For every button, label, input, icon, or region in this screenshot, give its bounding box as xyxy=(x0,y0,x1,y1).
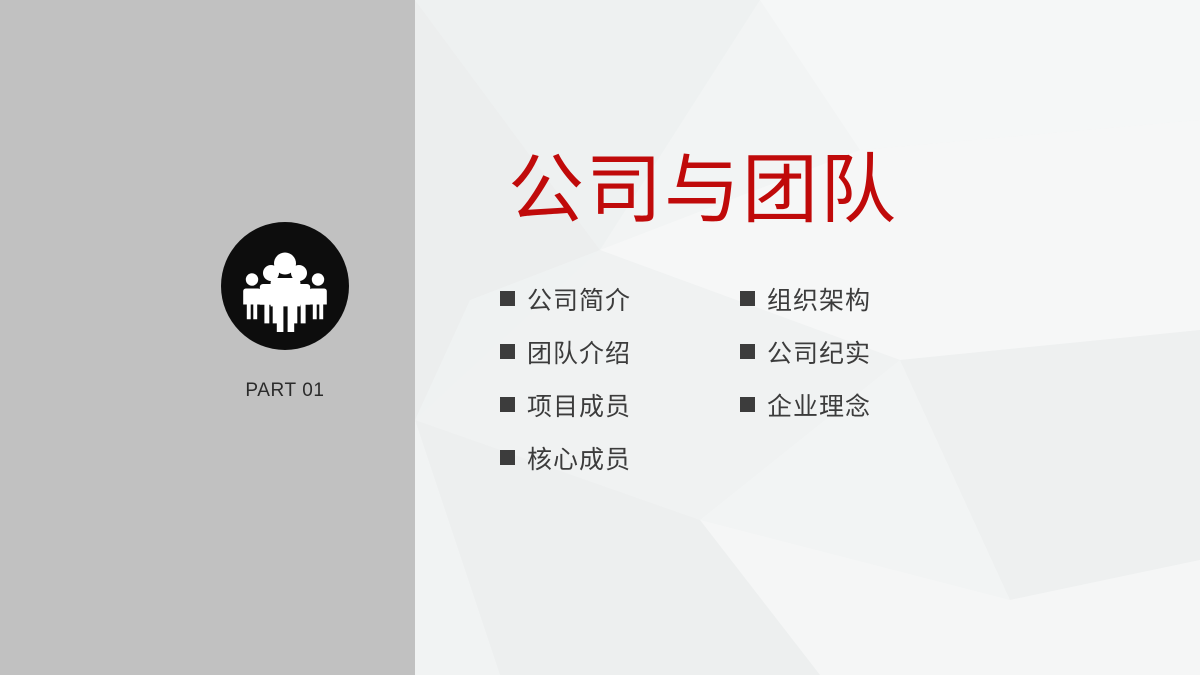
list-item[interactable]: 企业理念 xyxy=(740,378,871,431)
list-item[interactable]: 项目成员 xyxy=(500,378,631,431)
list-item-label: 项目成员 xyxy=(527,387,631,423)
square-bullet-icon xyxy=(500,397,515,412)
list-item-label: 组织架构 xyxy=(767,281,871,317)
square-bullet-icon xyxy=(740,344,755,359)
slide-root: PART 01 公司与团队 公司简介 团队介绍 项目成员 核心成员 组织架构 公… xyxy=(0,0,1200,675)
square-bullet-icon xyxy=(740,397,755,412)
list-item-label: 核心成员 xyxy=(527,440,631,476)
list-item[interactable]: 公司简介 xyxy=(500,272,631,325)
left-gray-panel xyxy=(0,0,415,675)
bullet-column-left: 公司简介 团队介绍 项目成员 核心成员 xyxy=(500,272,631,484)
bullet-column-right: 组织架构 公司纪实 企业理念 xyxy=(740,272,871,431)
page-title: 公司与团队 xyxy=(508,152,898,228)
square-bullet-icon xyxy=(500,291,515,306)
list-item[interactable]: 核心成员 xyxy=(500,431,631,484)
list-item-label: 企业理念 xyxy=(767,387,871,423)
square-bullet-icon xyxy=(500,450,515,465)
group-people-icon xyxy=(221,222,349,350)
list-item[interactable]: 组织架构 xyxy=(740,272,871,325)
list-item[interactable]: 团队介绍 xyxy=(500,325,631,378)
list-item-label: 公司简介 xyxy=(527,281,631,317)
part-label: PART 01 xyxy=(185,380,385,402)
list-item-label: 公司纪实 xyxy=(767,334,871,370)
square-bullet-icon xyxy=(500,344,515,359)
list-item[interactable]: 公司纪实 xyxy=(740,325,871,378)
list-item-label: 团队介绍 xyxy=(527,334,631,370)
part-badge xyxy=(221,222,349,350)
square-bullet-icon xyxy=(740,291,755,306)
